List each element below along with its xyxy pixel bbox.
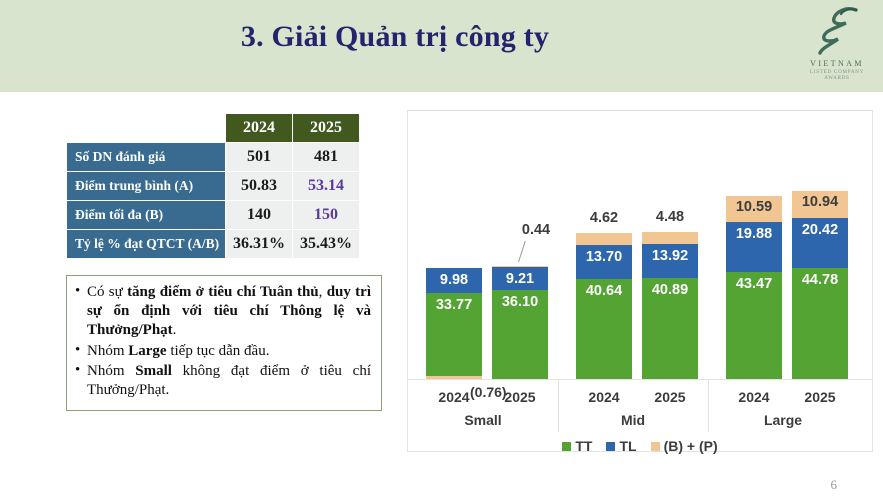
- segment-tl: 19.88: [726, 222, 782, 271]
- segment-tl: 20.42: [792, 218, 848, 269]
- legend-item: (B) + (P): [651, 438, 718, 454]
- table-cell-2024: 501: [226, 143, 293, 172]
- axis-label-mid-2025: 2025: [642, 380, 698, 405]
- legend-item: TT: [562, 438, 592, 454]
- segment-tt-label: 40.64: [576, 284, 632, 299]
- segment-tl: 13.70: [576, 245, 632, 279]
- table-row-label: Điểm trung bình (A): [67, 172, 226, 201]
- segment-tt-label: 40.89: [642, 283, 698, 298]
- segment-tl: 9.21: [492, 267, 548, 290]
- legend-swatch-icon: [606, 442, 615, 451]
- segment-bp-label: 10.59: [726, 200, 782, 215]
- segment-tt: 40.89: [642, 278, 698, 379]
- table-row-label: Điểm tối đa (B): [67, 201, 226, 230]
- list-item: Nhóm Small không đạt điểm ở tiêu chí Thư…: [75, 362, 371, 400]
- segment-tl: 13.92: [642, 244, 698, 278]
- list-item: Có sự tăng điểm ở tiêu chí Tuân thủ, duy…: [75, 283, 371, 341]
- logo-text-awards: AWARDS: [795, 76, 879, 81]
- segment-tl-label: 20.42: [792, 223, 848, 238]
- logo-text-vietnam: VIETNAM: [795, 59, 879, 68]
- segment-tt: 44.78: [792, 268, 848, 379]
- label-leader-line: [518, 241, 526, 262]
- table-header-2024: 2024: [226, 114, 293, 143]
- legend-swatch-icon: [562, 442, 571, 451]
- legend-item: TL: [606, 438, 636, 454]
- segment-tt: 33.77: [426, 293, 482, 377]
- table-header-row: 20242025: [67, 114, 360, 143]
- table-corner-cell: [67, 114, 226, 143]
- legend-label: (B) + (P): [664, 438, 718, 454]
- axis-label-large-2024: 2024: [726, 380, 782, 405]
- table-row: Điểm tối đa (B)140150: [67, 201, 360, 230]
- segment-tt: 40.64: [576, 279, 632, 380]
- page-title: 3. Giải Quản trị công ty: [0, 20, 790, 54]
- table-row: Điểm trung bình (A)50.8353.14: [67, 172, 360, 201]
- brand-logo: VIETNAM LISTED COMPANY AWARDS: [795, 4, 879, 90]
- segment-bp-callout-label-small-2024: (0.76): [470, 384, 507, 400]
- chart-axis-area: TTTL(B) + (P) 202420252024202520242025(0…: [408, 379, 872, 454]
- logo-swirl-icon: [806, 4, 868, 58]
- table-cell-2024: 50.83: [226, 172, 293, 201]
- chart-plot-area: 9.9833.77(0.76)9.2136.100.4413.7040.644.…: [408, 111, 872, 379]
- segment-bp-callout-label: 4.48: [630, 210, 710, 225]
- segment-tt-label: 36.10: [492, 295, 548, 310]
- list-item: Nhóm Large tiếp tục dẫn đầu.: [75, 342, 371, 361]
- key-findings-list: Có sự tăng điểm ở tiêu chí Tuân thủ, duy…: [75, 283, 371, 400]
- table-cell-2024: 36.31%: [226, 230, 293, 259]
- table-cell-2025: 35.43%: [293, 230, 360, 259]
- table-cell-2025: 481: [293, 143, 360, 172]
- segment-tt-label: 33.77: [426, 298, 482, 313]
- segment-bp: [642, 232, 698, 243]
- segment-tl-label: 19.88: [726, 227, 782, 242]
- bar-stack: 10.9420.4244.78: [792, 191, 848, 379]
- logo-text-listed-company: LISTED COMPANY: [795, 70, 879, 75]
- legend-swatch-icon: [651, 442, 660, 451]
- table-cell-2025: 53.14: [293, 172, 360, 201]
- segment-tl: 9.98: [426, 268, 482, 293]
- key-findings-box: Có sự tăng điểm ở tiêu chí Tuân thủ, duy…: [66, 275, 382, 411]
- axis-group-label-small: Small: [408, 412, 558, 428]
- table-header-2025: 2025: [293, 114, 360, 143]
- table-row: Tỷ lệ % đạt QTCT (A/B)36.31%35.43%: [67, 230, 360, 259]
- segment-tt: 36.10: [492, 290, 548, 379]
- segment-bp: 10.94: [792, 191, 848, 218]
- segment-tt-label: 43.47: [726, 277, 782, 292]
- legend-label: TL: [619, 438, 636, 454]
- table-row: Số DN đánh giá501481: [67, 143, 360, 172]
- page-number: 6: [831, 477, 838, 493]
- bar-stack: 13.9240.89: [642, 232, 698, 379]
- bar-stack: 9.9833.77: [426, 268, 482, 379]
- segment-tl-label: 9.21: [492, 272, 548, 287]
- chart-legend: TTTL(B) + (P): [408, 438, 872, 454]
- segment-tl-label: 9.98: [426, 273, 482, 288]
- table-cell-2024: 140: [226, 201, 293, 230]
- segment-tt-label: 44.78: [792, 273, 848, 288]
- stacked-bar-chart: 9.9833.77(0.76)9.2136.100.4413.7040.644.…: [407, 110, 873, 452]
- axis-label-large-2025: 2025: [792, 380, 848, 405]
- segment-bp: 10.59: [726, 196, 782, 222]
- segment-bp: [576, 233, 632, 244]
- axis-group-label-large: Large: [708, 412, 858, 428]
- bar-stack: 9.2136.10: [492, 266, 548, 379]
- table-row-label: Số DN đánh giá: [67, 143, 226, 172]
- segment-bp-label: 10.94: [792, 195, 848, 210]
- axis-group-label-mid: Mid: [558, 412, 708, 428]
- segment-tl-label: 13.92: [642, 249, 698, 264]
- table-row-label: Tỷ lệ % đạt QTCT (A/B): [67, 230, 226, 259]
- bar-stack: 10.5919.8843.47: [726, 196, 782, 379]
- table-cell-2025: 150: [293, 201, 360, 230]
- axis-label-mid-2024: 2024: [576, 380, 632, 405]
- segment-bp-callout-label: 0.44: [496, 223, 576, 238]
- segment-tl-label: 13.70: [576, 250, 632, 265]
- bar-stack: 13.7040.64: [576, 233, 632, 379]
- legend-label: TT: [575, 438, 592, 454]
- segment-tt: 43.47: [726, 272, 782, 380]
- summary-table: 20242025Số DN đánh giá501481Điểm trung b…: [66, 113, 360, 259]
